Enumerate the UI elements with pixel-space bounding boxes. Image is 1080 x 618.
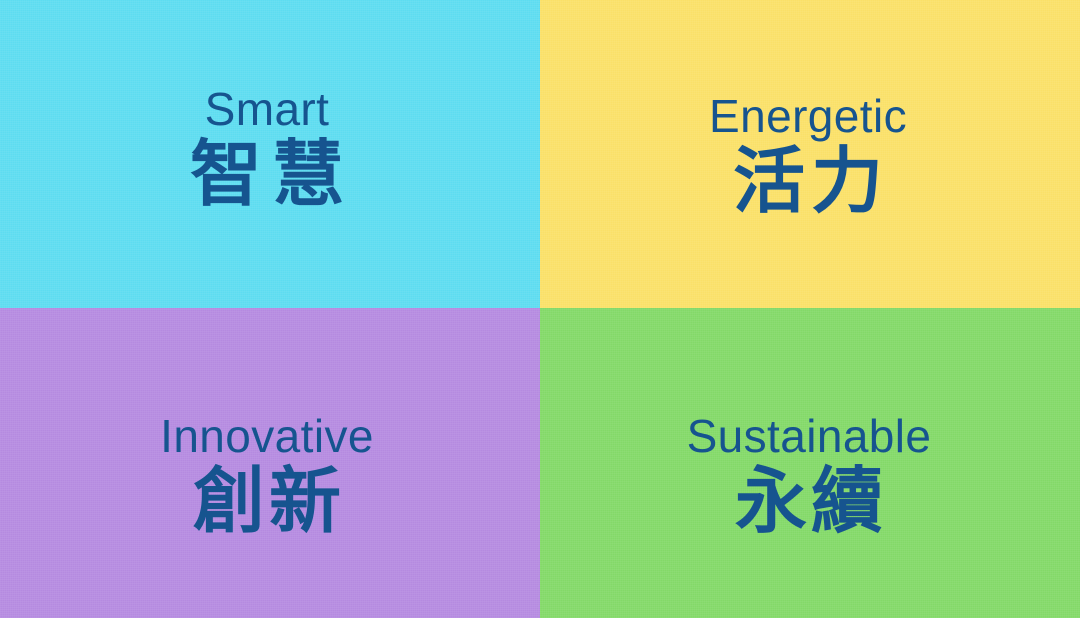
quadrant-energetic-content: Energetic 活力 [709, 92, 907, 220]
quadrant-sustainable[interactable]: Sustainable 永續 [540, 308, 1080, 618]
quadrant-innovative[interactable]: Innovative 創新 [0, 308, 540, 618]
quadrant-innovative-label-en: Innovative [160, 412, 374, 460]
quadrant-sustainable-content: Sustainable 永續 [687, 412, 932, 540]
quadrant-sustainable-label-zh: 永續 [731, 466, 887, 539]
quadrant-smart-content: Smart 智慧 [180, 85, 354, 213]
quadrant-smart-label-zh: 智慧 [180, 139, 354, 212]
quadrant-smart[interactable]: Smart 智慧 [0, 0, 540, 308]
brand-values-grid: Smart 智慧 Energetic 活力 Innovative 創新 Sust… [0, 0, 1080, 618]
quadrant-innovative-label-zh: 創新 [189, 466, 345, 539]
quadrant-sustainable-label-en: Sustainable [687, 412, 932, 460]
quadrant-energetic-label-zh: 活力 [727, 146, 889, 219]
quadrant-smart-label-en: Smart [205, 85, 330, 133]
quadrant-energetic-label-en: Energetic [709, 92, 907, 140]
quadrant-innovative-content: Innovative 創新 [160, 412, 374, 540]
quadrant-energetic[interactable]: Energetic 活力 [540, 0, 1080, 308]
